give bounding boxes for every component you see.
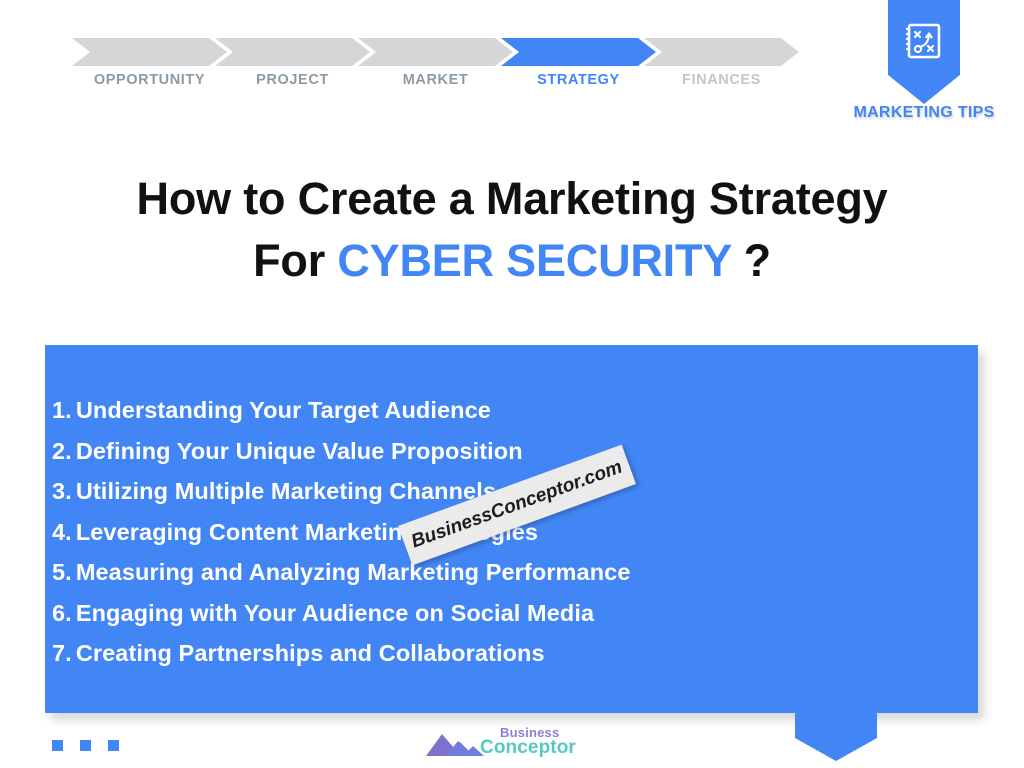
- step-opportunity[interactable]: OPPORTUNITY: [72, 38, 227, 66]
- slide-canvas: OPPORTUNITY PROJECT MARKET STRATEGY FINA…: [0, 0, 1024, 768]
- list-item-number: 7.: [52, 640, 72, 666]
- list-item: 7.Creating Partnerships and Collaboratio…: [52, 637, 932, 678]
- chevron-shape: [644, 38, 799, 66]
- list-item-number: 2.: [52, 438, 72, 464]
- marketing-tips-badge: MARKETING TIPS: [888, 0, 960, 104]
- list-item-number: 3.: [52, 478, 72, 504]
- page-title: How to Create a Marketing Strategy For C…: [0, 168, 1024, 292]
- title-line-2: For CYBER SECURITY ?: [0, 230, 1024, 292]
- badge-caption: MARKETING TIPS: [848, 104, 1000, 122]
- footer-dot: [80, 740, 91, 751]
- mountain-icon: [424, 728, 486, 758]
- step-strategy[interactable]: STRATEGY: [501, 38, 656, 66]
- strategy-playbook-icon: [905, 22, 943, 60]
- logo-wordmark: Business Conceptor: [480, 726, 576, 757]
- progress-stepper: OPPORTUNITY PROJECT MARKET STRATEGY FINA…: [72, 38, 812, 96]
- title-suffix: ?: [731, 235, 771, 286]
- step-label: PROJECT: [215, 72, 370, 88]
- step-label: FINANCES: [644, 72, 799, 88]
- list-item: 1.Understanding Your Target Audience: [52, 394, 932, 435]
- list-item: 2.Defining Your Unique Value Proposition: [52, 435, 932, 476]
- footer-dot: [52, 740, 63, 751]
- list-item-text: Creating Partnerships and Collaborations: [76, 640, 545, 666]
- step-finances[interactable]: FINANCES: [644, 38, 799, 66]
- step-label: OPPORTUNITY: [72, 72, 227, 88]
- list-item-text: Measuring and Analyzing Marketing Perfor…: [76, 559, 631, 585]
- list-item-text: Utilizing Multiple Marketing Channels: [76, 478, 496, 504]
- list-item-text: Defining Your Unique Value Proposition: [76, 438, 523, 464]
- list-item-number: 4.: [52, 519, 72, 545]
- title-prefix: For: [253, 235, 337, 286]
- list-item-text: Understanding Your Target Audience: [76, 397, 491, 423]
- list-item-number: 5.: [52, 559, 72, 585]
- step-market[interactable]: MARKET: [358, 38, 513, 66]
- title-line-1: How to Create a Marketing Strategy: [0, 168, 1024, 230]
- step-label: MARKET: [358, 72, 513, 88]
- list-item: 5.Measuring and Analyzing Marketing Perf…: [52, 556, 932, 597]
- footer-dot: [108, 740, 119, 751]
- panel-arrow-shape: [795, 713, 877, 761]
- list-item-number: 6.: [52, 600, 72, 626]
- list-item-number: 1.: [52, 397, 72, 423]
- chevron-shape: [501, 38, 656, 66]
- title-accent: CYBER SECURITY: [337, 235, 731, 286]
- chevron-shape: [358, 38, 513, 66]
- list-item-text: Engaging with Your Audience on Social Me…: [76, 600, 594, 626]
- list-item: 6.Engaging with Your Audience on Social …: [52, 597, 932, 638]
- footer-dots: [52, 740, 119, 751]
- chevron-shape: [215, 38, 370, 66]
- business-conceptor-logo: Business Conceptor: [424, 726, 604, 762]
- step-label: STRATEGY: [501, 72, 656, 88]
- step-project[interactable]: PROJECT: [215, 38, 370, 66]
- logo-text-bottom: Conceptor: [480, 738, 576, 757]
- chevron-shape: [72, 38, 227, 66]
